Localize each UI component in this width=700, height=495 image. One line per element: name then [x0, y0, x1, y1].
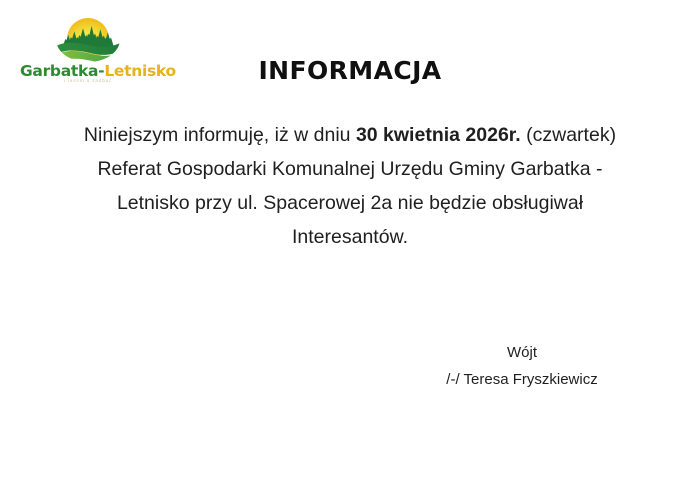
- announcement-date: 30 kwietnia 2026r.: [356, 124, 521, 146]
- body-line-1-suffix: (czwartek): [521, 124, 616, 146]
- document-page: Garbatka-Letnisko i lasem u zadbać INFOR…: [0, 0, 700, 495]
- signature-title: Wójt: [402, 339, 642, 366]
- body-line-3: Letnisko przy ul. Spacerowej 2a nie będz…: [40, 186, 660, 220]
- page-title: INFORMACJA: [0, 56, 700, 85]
- signature-name: /-/ Teresa Fryszkiewicz: [402, 366, 642, 393]
- body-line-2: Referat Gospodarki Komunalnej Urzędu Gmi…: [40, 152, 660, 186]
- body-line-1-prefix: Niniejszym informuję, iż w dniu: [84, 124, 356, 146]
- signature-block: Wójt /-/ Teresa Fryszkiewicz: [402, 339, 642, 393]
- announcement-body: Niniejszym informuję, iż w dniu 30 kwiet…: [40, 118, 660, 254]
- body-line-4: Interesantów.: [40, 220, 660, 254]
- body-line-1: Niniejszym informuję, iż w dniu 30 kwiet…: [40, 118, 660, 152]
